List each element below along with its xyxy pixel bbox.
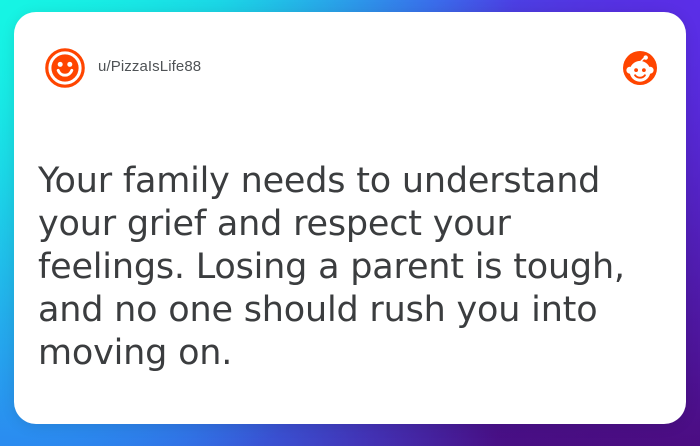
reddit-snoo-logo-icon[interactable]	[622, 50, 658, 86]
post-header: u/PizzaIsLife88	[14, 12, 686, 104]
post-body-text: Your family needs to understand your gri…	[38, 160, 668, 375]
screenshot-stage: u/PizzaIsLife88 Your family needs to und…	[0, 0, 700, 446]
post-author-username[interactable]: u/PizzaIsLife88	[98, 58, 201, 75]
smiley-face-avatar-icon[interactable]	[44, 47, 86, 89]
reddit-post-card: u/PizzaIsLife88 Your family needs to und…	[14, 12, 686, 424]
